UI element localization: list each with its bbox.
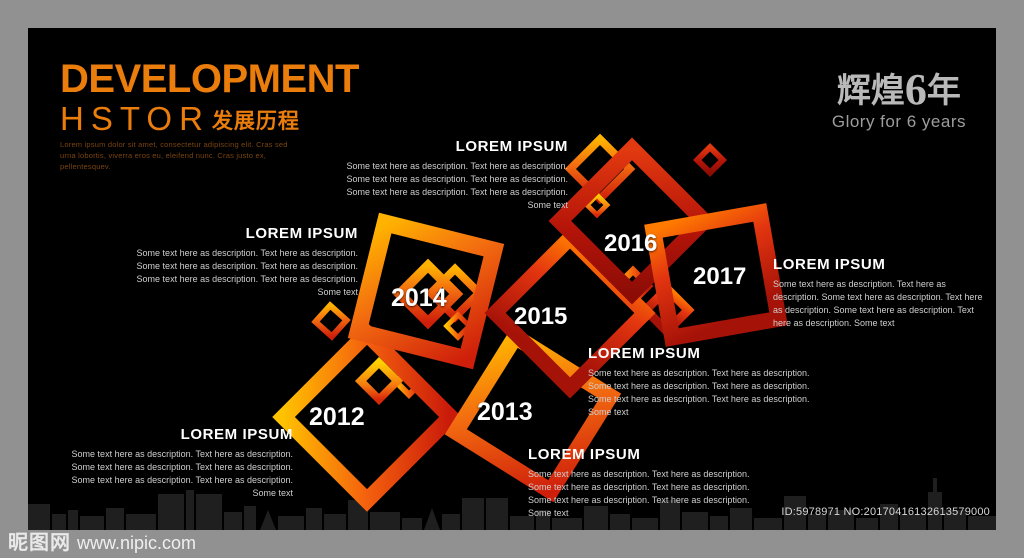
- milestone-text-2015: LOREM IPSUM Some text here as descriptio…: [588, 345, 813, 419]
- milestone-year-2015: 2015: [514, 303, 567, 331]
- milestone-body-2013: Some text here as description. Text here…: [528, 468, 758, 520]
- milestone-year-2016: 2016: [604, 230, 657, 258]
- milestone-body-2012: Some text here as description. Text here…: [48, 448, 293, 500]
- milestone-heading-2014: LOREM IPSUM: [118, 225, 358, 242]
- milestone-text-2013: LOREM IPSUM Some text here as descriptio…: [528, 446, 758, 520]
- milestone-year-2014: 2014: [391, 284, 447, 313]
- milestone-text-2016: LOREM IPSUM Some text here as descriptio…: [328, 138, 568, 212]
- milestone-heading-2012: LOREM IPSUM: [48, 426, 293, 443]
- watermark-site-name: 昵图网: [8, 532, 71, 554]
- milestone-text-2012: LOREM IPSUM Some text here as descriptio…: [48, 426, 293, 500]
- milestone-heading-2017: LOREM IPSUM: [773, 256, 988, 273]
- milestone-body-2014: Some text here as description. Text here…: [118, 247, 358, 299]
- watermark: 昵图网 www.nipic.com: [8, 532, 196, 554]
- watermark-url: www.nipic.com: [77, 532, 196, 554]
- milestone-heading-2016: LOREM IPSUM: [328, 138, 568, 155]
- milestone-body-2017: Some text here as description. Text here…: [773, 278, 988, 330]
- milestone-year-2017: 2017: [693, 263, 746, 291]
- milestone-text-2017: LOREM IPSUM Some text here as descriptio…: [773, 256, 988, 330]
- poster-root: DEVELOPMENT HSTOR 发展历程 Lorem ipsum dolor…: [0, 0, 1024, 558]
- milestone-year-2012: 2012: [309, 403, 365, 432]
- milestone-year-2013: 2013: [477, 398, 533, 427]
- milestone-heading-2015: LOREM IPSUM: [588, 345, 813, 362]
- milestone-body-2015: Some text here as description. Text here…: [588, 367, 813, 419]
- milestone-body-2016: Some text here as description. Text here…: [328, 160, 568, 212]
- milestone-text-2014: LOREM IPSUM Some text here as descriptio…: [118, 225, 358, 299]
- poster-canvas: DEVELOPMENT HSTOR 发展历程 Lorem ipsum dolor…: [28, 28, 996, 530]
- milestone-heading-2013: LOREM IPSUM: [528, 446, 758, 463]
- image-id-text: ID:5978971 NO:20170416132613579000: [781, 506, 990, 518]
